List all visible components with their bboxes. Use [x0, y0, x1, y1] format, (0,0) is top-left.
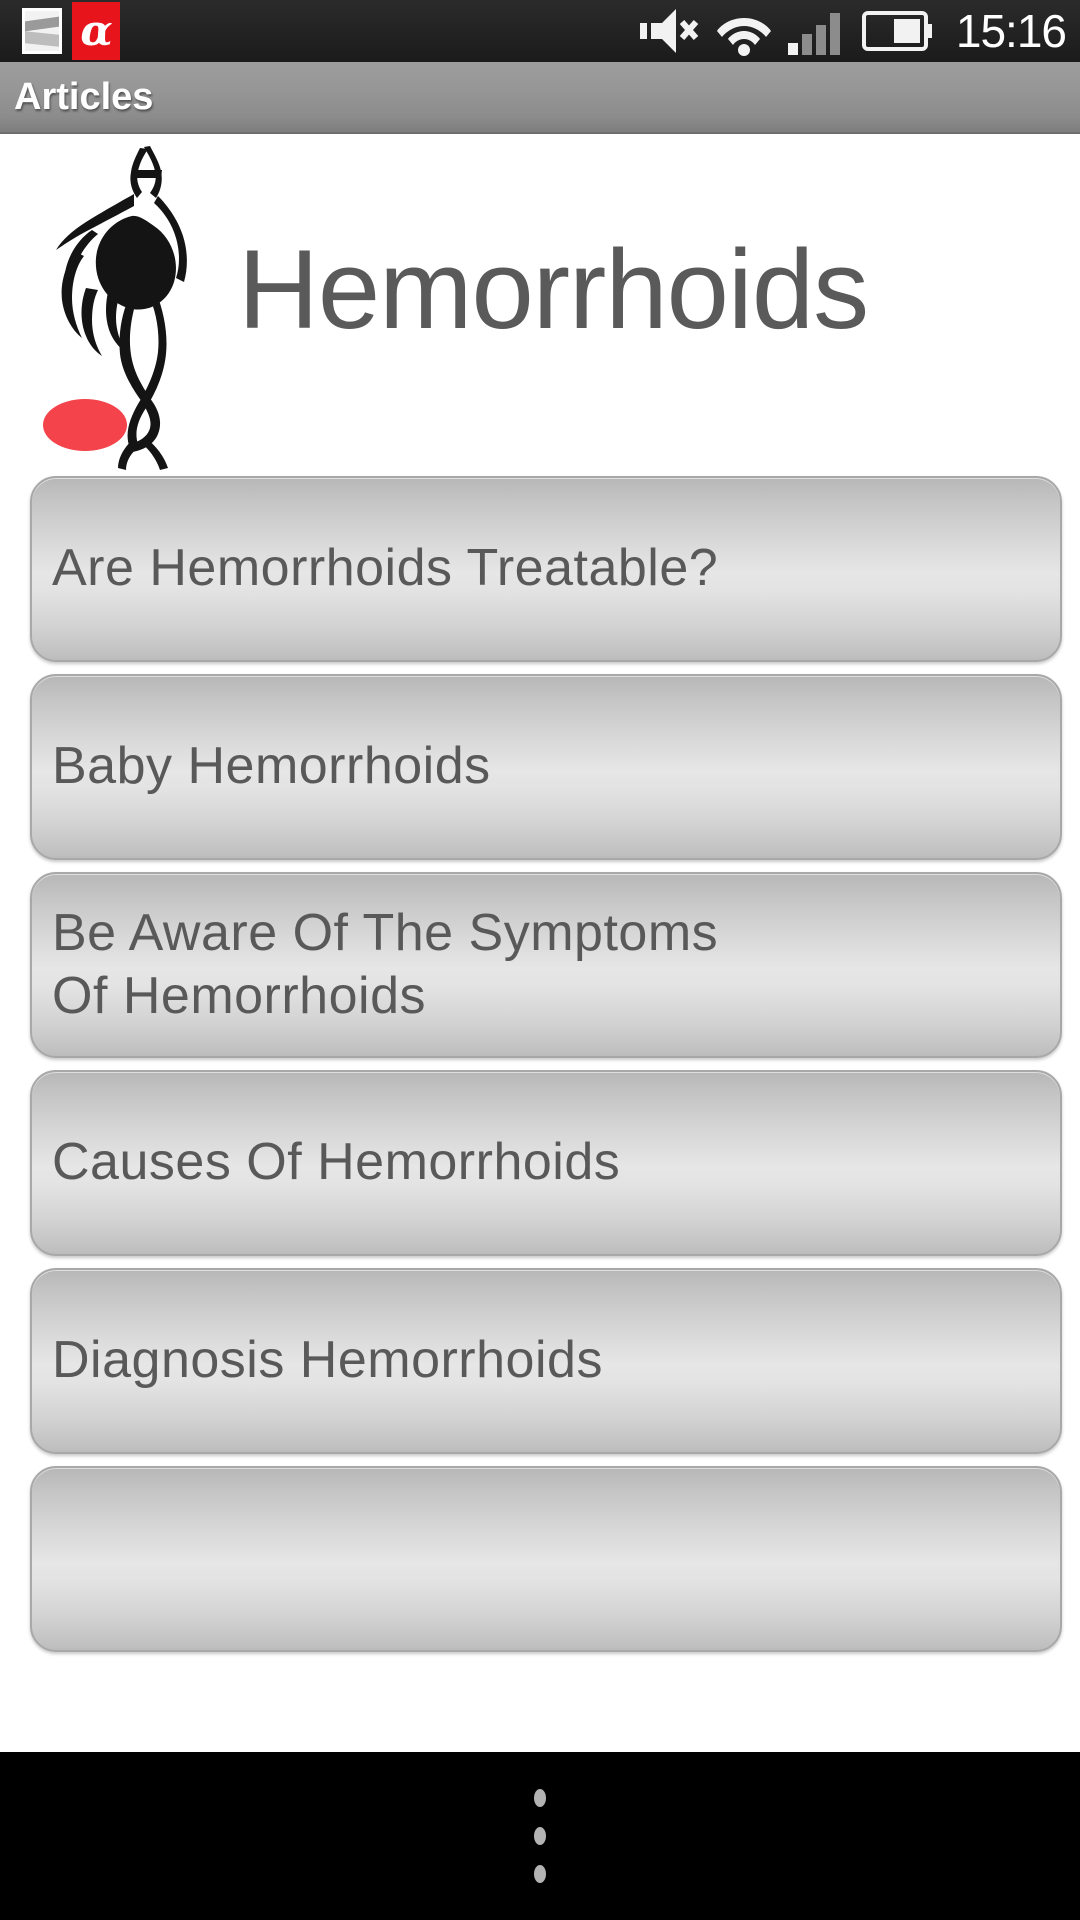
overflow-dot [534, 1865, 546, 1883]
article-item-3[interactable]: Causes Of Hemorrhoids [30, 1070, 1062, 1256]
article-item-2[interactable]: Be Aware Of The Symptoms Of Hemorrhoids [30, 872, 1062, 1058]
standing-woman-silhouette-icon [28, 142, 228, 472]
app-logo-title: Hemorrhoids [238, 234, 868, 346]
system-navigation-bar [0, 1752, 1080, 1920]
overflow-menu-icon[interactable] [532, 1781, 548, 1891]
battery-icon [862, 8, 934, 54]
article-item-label: Baby Hemorrhoids [32, 735, 511, 798]
article-item-label: Are Hemorrhoids Treatable? [32, 537, 738, 600]
wifi-icon [716, 6, 772, 56]
overflow-dot [534, 1789, 546, 1807]
articles-list: Are Hemorrhoids Treatable? Baby Hemorrho… [0, 476, 1080, 1652]
cellular-signal-icon [788, 7, 846, 55]
article-item-4[interactable]: Diagnosis Hemorrhoids [30, 1268, 1062, 1454]
avira-antivirus-icon[interactable]: ɑ [72, 2, 120, 60]
article-item-5[interactable] [30, 1466, 1062, 1652]
volume-mute-icon [638, 6, 700, 56]
status-bar-system-icons: 15:16 [638, 6, 1066, 56]
article-item-label: Causes Of Hemorrhoids [32, 1131, 640, 1194]
article-item-1[interactable]: Baby Hemorrhoids [30, 674, 1062, 860]
page-title: Articles [0, 76, 153, 119]
article-item-label: Diagnosis Hemorrhoids [32, 1329, 623, 1392]
screenshot-notification-icon[interactable] [22, 8, 62, 54]
overflow-dot [534, 1827, 546, 1845]
status-bar: ɑ [0, 0, 1080, 62]
status-bar-notifications: ɑ [22, 0, 120, 62]
article-item-label: Be Aware Of The Symptoms Of Hemorrhoids [32, 902, 738, 1029]
article-item-0[interactable]: Are Hemorrhoids Treatable? [30, 476, 1062, 662]
content-scroll-area[interactable]: Hemorrhoids Are Hemorrhoids Treatable? B… [0, 136, 1080, 1752]
action-bar: Articles [0, 62, 1080, 134]
status-bar-clock: 15:16 [956, 8, 1066, 54]
app-logo: Hemorrhoids [0, 136, 1080, 476]
